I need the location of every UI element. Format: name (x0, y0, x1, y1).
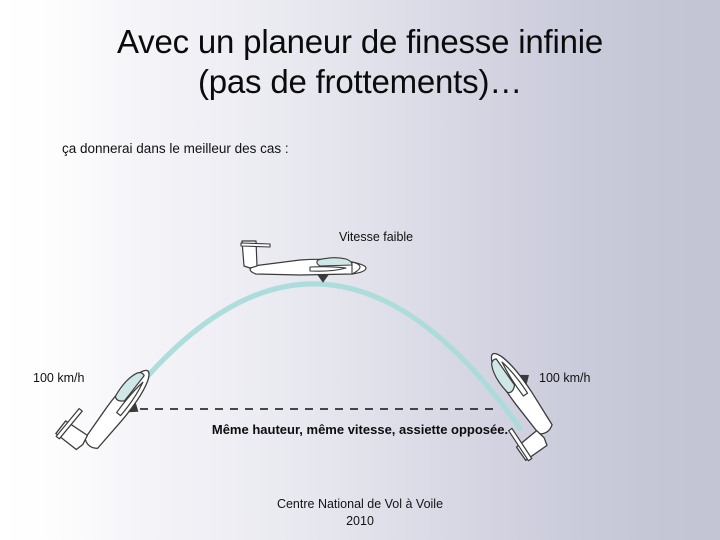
label-right-speed: 100 km/h (539, 371, 590, 385)
glider-apex-canopy (317, 258, 352, 266)
label-apex-speed: Vitesse faible (339, 230, 413, 244)
trajectory-diagram (0, 0, 720, 540)
footer-organisation: Centre National de Vol à Voile (0, 496, 720, 513)
glider-apex-wheel (318, 275, 328, 282)
footer-year: 2010 (0, 513, 720, 530)
glider-apex-level (241, 241, 366, 282)
caption-text: Même hauteur, même vitesse, assiette opp… (0, 422, 720, 437)
parabolic-trajectory-arc (118, 284, 520, 428)
glider-apex-tailplane (241, 243, 270, 247)
glider-right-descending (465, 344, 569, 462)
slide-canvas: Avec un planeur de finesse infinie (pas … (0, 0, 720, 540)
footer: Centre National de Vol à Voile 2010 (0, 496, 720, 530)
label-left-speed: 100 km/h (33, 371, 84, 385)
